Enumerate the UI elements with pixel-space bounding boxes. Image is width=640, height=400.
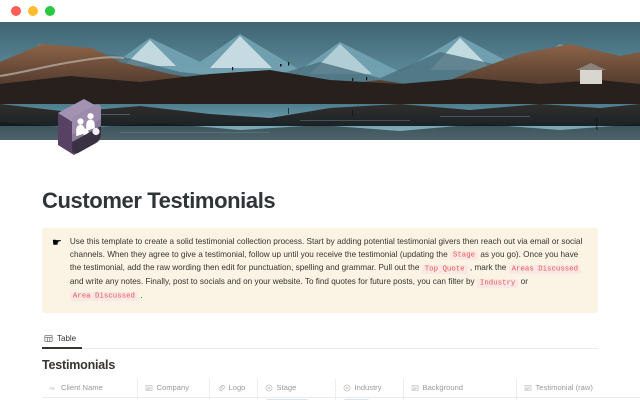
minimize-window-button[interactable]	[28, 6, 38, 16]
inline-code-tag: Areas Discussed	[509, 265, 582, 274]
view-tab-bar: Table	[42, 331, 598, 349]
zoom-window-button[interactable]	[45, 6, 55, 16]
select-icon	[343, 384, 351, 392]
svg-text:Aa: Aa	[49, 385, 55, 390]
column-header-select-3[interactable]: Stage	[257, 379, 335, 398]
database-title: Testimonials	[42, 358, 640, 372]
inline-code-tag: Area Discussed	[70, 292, 138, 301]
table-header-row: AaClient NameCompanyLogoStageIndustryBac…	[42, 379, 640, 398]
paperclip-icon	[217, 384, 225, 392]
column-header-select-4[interactable]: Industry	[335, 379, 403, 398]
column-header-text-5[interactable]: Background	[403, 379, 516, 398]
inline-code-tag: Stage	[450, 251, 478, 260]
inline-code-tag: Top Quote	[422, 265, 468, 274]
column-header-label: Testimonial (raw)	[536, 383, 593, 392]
column-header-files-2[interactable]: Logo	[209, 379, 257, 398]
column-header-title-0[interactable]: AaClient Name	[42, 379, 137, 398]
text-lines-icon	[145, 384, 153, 392]
window-titlebar	[0, 0, 640, 22]
app-window: Customer Testimonials ☛ Use this templat…	[0, 0, 640, 400]
column-header-label: Stage	[277, 383, 297, 392]
title-text-icon: Aa	[49, 384, 57, 392]
text-lines-icon	[524, 384, 532, 392]
inline-code-tag: Industry	[477, 279, 518, 288]
column-header-label: Company	[157, 383, 190, 392]
column-header-label: Industry	[355, 383, 382, 392]
page-icon[interactable]	[52, 97, 110, 159]
tab-table[interactable]: Table	[42, 334, 82, 349]
database-table: AaClient NameCompanyLogoStageIndustryBac…	[42, 379, 640, 400]
callout-block[interactable]: ☛ Use this template to create a solid te…	[42, 228, 598, 313]
tab-label: Table	[57, 334, 76, 343]
select-icon	[265, 384, 273, 392]
column-header-label: Background	[423, 383, 464, 392]
pointing-hand-icon: ☛	[52, 236, 62, 250]
column-header-label: Client Name	[61, 383, 103, 392]
column-header-text-6[interactable]: Testimonial (raw)	[516, 379, 640, 398]
table-grid-icon	[44, 334, 53, 343]
database-table-scroll[interactable]: AaClient NameCompanyLogoStageIndustryBac…	[42, 379, 640, 400]
text-lines-icon	[411, 384, 419, 392]
column-header-text-1[interactable]: Company	[137, 379, 209, 398]
page-title: Customer Testimonials	[42, 188, 640, 214]
callout-text: Use this template to create a solid test…	[70, 236, 588, 304]
close-window-button[interactable]	[11, 6, 21, 16]
column-header-label: Logo	[229, 383, 246, 392]
